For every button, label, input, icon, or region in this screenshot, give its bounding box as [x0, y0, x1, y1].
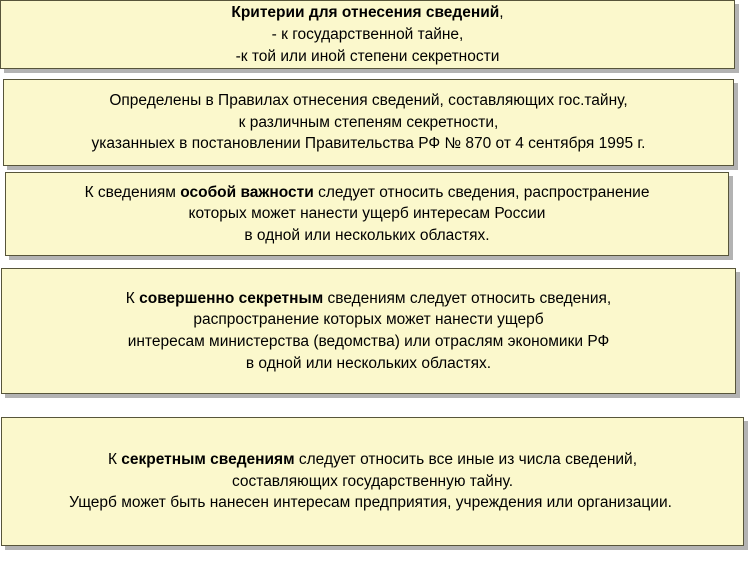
callout-box-regulations: Определены в Правилах отнесения сведений…	[3, 79, 734, 166]
text-run: следует относить сведения, распространен…	[314, 184, 650, 201]
text-run: К	[126, 290, 139, 307]
text-line: составляющих государственную тайну.	[232, 471, 513, 493]
text-line: распространение которых может нанести ущ…	[193, 309, 543, 331]
callout-box-special-importance: К сведениям особой важности следует отно…	[5, 172, 729, 256]
emphasis-text: Критерии для отнесения сведений	[231, 4, 499, 21]
text-line: указанныех в постановлении Правительства…	[92, 133, 646, 154]
text-line: к различным степеням секретности,	[239, 112, 499, 133]
text-run: К	[108, 451, 121, 468]
callout-box-secret: К секретным сведениям следует относить в…	[1, 417, 744, 546]
text-line: Определены в Правилах отнесения сведений…	[109, 90, 627, 111]
emphasis-text: совершенно секретным	[139, 290, 323, 307]
text-run: следует относить все иные из числа сведе…	[295, 451, 637, 468]
text-line: - к государственной тайне,	[272, 24, 464, 46]
text-run: ,	[499, 4, 503, 21]
text-line: в одной или нескольких областях.	[244, 225, 489, 246]
text-line: Ущерб может быть нанесен интересам предп…	[69, 492, 672, 514]
text-line: Критерии для отнесения сведений,	[231, 2, 503, 24]
callout-box-top-secret: К совершенно секретным сведениям следует…	[1, 268, 736, 394]
text-run: сведениям следует относить сведения,	[323, 290, 611, 307]
emphasis-text: секретным сведениям	[121, 451, 294, 468]
emphasis-text: особой важности	[180, 184, 314, 201]
slide-canvas: Критерии для отнесения сведений, - к гос…	[0, 0, 750, 562]
text-line: которых может нанести ущерб интересам Ро…	[189, 203, 546, 224]
callout-box-criteria: Критерии для отнесения сведений, - к гос…	[0, 0, 735, 69]
text-line: в одной или нескольких областях.	[246, 353, 491, 375]
text-run: К сведениям	[85, 184, 181, 201]
text-line: интересам министерства (ведомства) или о…	[128, 331, 610, 353]
text-line: К сведениям особой важности следует отно…	[85, 182, 650, 203]
text-line: К совершенно секретным сведениям следует…	[126, 288, 611, 310]
text-line: К секретным сведениям следует относить в…	[108, 449, 637, 471]
text-line: -к той или иной степени секретности	[236, 46, 500, 68]
